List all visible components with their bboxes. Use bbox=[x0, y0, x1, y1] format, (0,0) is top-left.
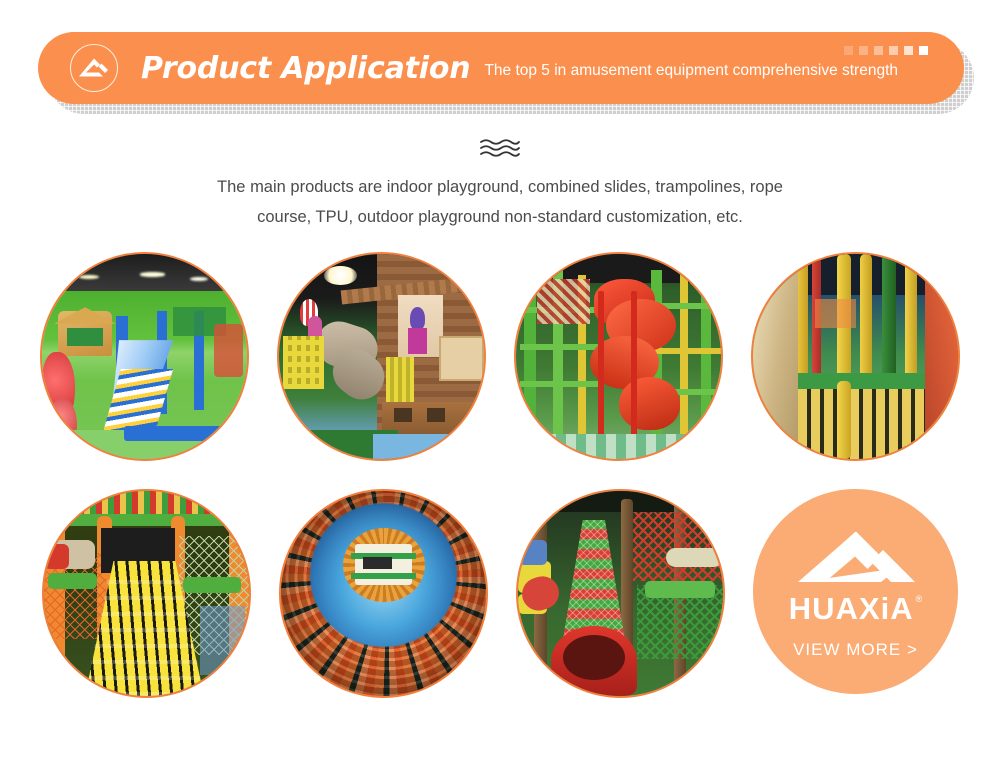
thumb-image bbox=[281, 491, 486, 696]
huaxia-mountain-logo-icon bbox=[70, 44, 118, 92]
intro-text-line-1: The main products are indoor playground,… bbox=[200, 172, 800, 202]
brand-name: HUAXiA bbox=[789, 593, 914, 624]
thumb-image bbox=[516, 254, 721, 459]
page-header-banner: Product Application The top 5 in amuseme… bbox=[38, 32, 964, 104]
thumb-image bbox=[753, 254, 958, 459]
intro-text-line-2: course, TPU, outdoor playground non-stan… bbox=[200, 202, 800, 232]
thumb-indoor-playground-blue-slide[interactable] bbox=[40, 252, 249, 461]
wavy-lines-divider-icon bbox=[479, 138, 521, 158]
thumb-red-spiral-tube-slide[interactable] bbox=[514, 252, 723, 461]
thumb-tiger-stripe-wave-slide[interactable] bbox=[42, 489, 251, 698]
product-gallery: HUAXiA ® VIEW MORE > bbox=[0, 252, 1000, 698]
registered-trademark-icon: ® bbox=[916, 595, 923, 604]
huaxia-mountain-logo-icon bbox=[795, 530, 917, 591]
banner-square-3 bbox=[874, 46, 883, 55]
gallery-row-1 bbox=[0, 252, 1000, 461]
banner-square-5 bbox=[904, 46, 913, 55]
gallery-row-2: HUAXiA ® VIEW MORE > bbox=[0, 489, 1000, 698]
thumb-orange-tunnel-interior[interactable] bbox=[279, 489, 488, 698]
banner-square-6 bbox=[919, 46, 928, 55]
page-title: Product Application bbox=[141, 51, 470, 86]
thumb-red-green-mesh-tunnel[interactable] bbox=[516, 489, 725, 698]
thumb-pirate-ship-playground[interactable] bbox=[277, 252, 486, 461]
view-more-label: VIEW MORE > bbox=[793, 640, 918, 660]
view-more-button[interactable]: HUAXiA ® VIEW MORE > bbox=[753, 489, 958, 694]
thumb-padded-column-maze[interactable] bbox=[751, 252, 960, 461]
banner-subtitle: The top 5 in amusement equipment compreh… bbox=[484, 62, 898, 80]
thumb-image bbox=[42, 254, 247, 459]
thumb-image bbox=[518, 491, 723, 696]
thumb-image bbox=[279, 254, 484, 459]
banner-pill: Product Application The top 5 in amuseme… bbox=[38, 32, 964, 104]
intro-section: The main products are indoor playground,… bbox=[0, 138, 1000, 232]
banner-square-4 bbox=[889, 46, 898, 55]
thumb-image bbox=[44, 491, 249, 696]
banner-square-2 bbox=[859, 46, 868, 55]
banner-decorative-squares bbox=[844, 46, 928, 55]
banner-square-1 bbox=[844, 46, 853, 55]
brand-wordmark: HUAXiA ® bbox=[789, 593, 922, 624]
